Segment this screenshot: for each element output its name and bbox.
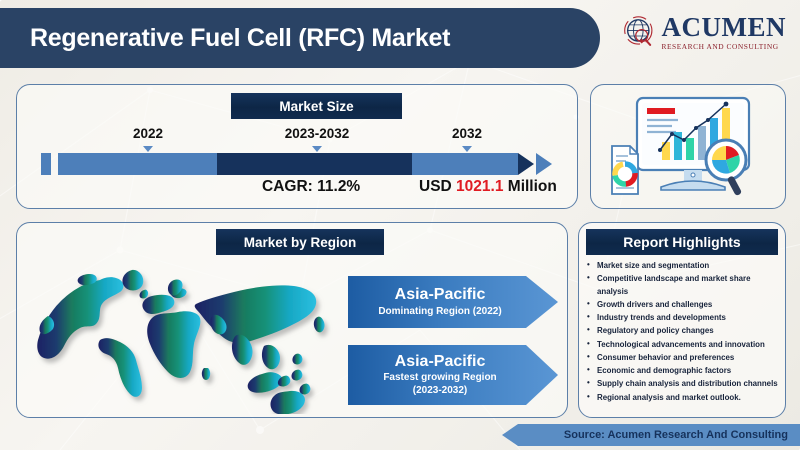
forecast-prefix: USD xyxy=(419,178,452,195)
bullet-icon: • xyxy=(587,298,590,310)
forecast-suffix: Million xyxy=(508,178,557,195)
bullet-icon: • xyxy=(587,259,590,271)
timeline-tick-1 xyxy=(312,146,322,152)
highlight-item: •Technological advancements and innovati… xyxy=(584,339,782,351)
highlight-item-label: Growth drivers and challenges xyxy=(597,300,712,309)
timeline-year-1: 2023-2032 xyxy=(254,126,380,144)
highlight-item-label: Industry trends and developments xyxy=(597,313,726,322)
cagr-stat: CAGR: 11.2% xyxy=(262,178,360,196)
screen-title-bar xyxy=(647,108,675,114)
bullet-icon: • xyxy=(587,324,590,336)
region-callout-fastest-growing: Asia-Pacific Fastest growing Region (202… xyxy=(348,345,558,405)
bullet-icon: • xyxy=(587,364,590,376)
market-by-region-title: Market by Region xyxy=(216,229,384,255)
highlight-item: •Industry trends and developments xyxy=(584,312,782,324)
timeline-arrowhead xyxy=(518,153,534,175)
globe-magnifier-icon xyxy=(623,16,657,50)
timeline-stub-1 xyxy=(58,153,68,175)
header-bar: Regenerative Fuel Cell (RFC) Market xyxy=(0,8,600,68)
source-text: Source: Acumen Research And Consulting xyxy=(502,424,800,446)
highlight-item: •Supply chain analysis and distribution … xyxy=(584,378,782,390)
region-callout-subtitle-line2: (2023-2032) xyxy=(413,384,467,397)
timeline-chevron xyxy=(536,153,552,175)
highlight-item-label: Market size and segmentation xyxy=(597,261,709,270)
highlight-item: •Consumer behavior and preferences xyxy=(584,352,782,364)
highlight-item-label: Competitive landscape and market share a… xyxy=(597,274,751,295)
bullet-icon: • xyxy=(587,272,590,284)
timeline-year-2: 2032 xyxy=(432,126,502,144)
highlight-item-label: Economic and demographic factors xyxy=(597,366,731,375)
timeline-tick-0 xyxy=(143,146,153,152)
bullet-icon: • xyxy=(587,338,590,350)
page-title: Regenerative Fuel Cell (RFC) Market xyxy=(30,24,450,53)
region-callout-subtitle: Dominating Region (2022) xyxy=(378,305,501,318)
region-callout-dominating: Asia-Pacific Dominating Region (2022) xyxy=(348,276,558,328)
highlight-item: •Market size and segmentation xyxy=(584,260,782,272)
source-banner: Source: Acumen Research And Consulting xyxy=(502,424,800,446)
forecast-value: 1021.1 xyxy=(456,178,503,195)
report-highlights-list: •Market size and segmentation•Competitiv… xyxy=(584,260,782,405)
report-highlights-title: Report Highlights xyxy=(586,229,778,255)
timeline-segment-0 xyxy=(68,153,217,175)
highlight-item: •Economic and demographic factors xyxy=(584,365,782,377)
highlight-item-label: Consumer behavior and preferences xyxy=(597,353,734,362)
timeline-stub-0 xyxy=(41,153,51,175)
highlight-item-label: Regulatory and policy changes xyxy=(597,326,714,335)
world-map-gradient xyxy=(28,262,338,414)
market-size-title: Market Size xyxy=(231,93,402,119)
region-callout-title: Asia-Pacific xyxy=(395,286,486,304)
cagr-label: CAGR: xyxy=(262,178,313,195)
highlight-item: •Competitive landscape and market share … xyxy=(584,273,782,298)
highlight-item-label: Technological advancements and innovatio… xyxy=(597,340,765,349)
highlight-item: •Growth drivers and challenges xyxy=(584,299,782,311)
timeline-tick-2 xyxy=(462,146,472,152)
highlight-item: •Regulatory and policy changes xyxy=(584,325,782,337)
region-callout-subtitle-line1: Fastest growing Region xyxy=(383,371,496,384)
bullet-icon: • xyxy=(587,391,590,403)
document-donut-chart xyxy=(612,146,638,194)
analytics-monitor-illustration xyxy=(606,90,772,204)
highlight-item-label: Regional analysis and market outlook. xyxy=(597,393,741,402)
timeline-segment-1 xyxy=(217,153,412,175)
logo-tagline: RESEARCH AND CONSULTING xyxy=(662,43,787,50)
forecast-stat: USD 1021.1 Million xyxy=(419,178,557,196)
bullet-icon: • xyxy=(587,351,590,363)
bullet-icon: • xyxy=(587,311,590,323)
cagr-value: 11.2% xyxy=(317,178,360,195)
highlight-item-label: Supply chain analysis and distribution c… xyxy=(597,379,778,388)
timeline-segment-2 xyxy=(412,153,518,175)
logo-wordmark: ACUMEN RESEARCH AND CONSULTING xyxy=(662,14,787,50)
timeline-year-0: 2022 xyxy=(113,126,183,144)
logo-name: ACUMEN xyxy=(662,14,787,41)
region-callout-title: Asia-Pacific xyxy=(395,353,486,371)
highlight-item: •Regional analysis and market outlook. xyxy=(584,392,782,404)
brand-logo[interactable]: ACUMEN RESEARCH AND CONSULTING xyxy=(623,14,787,50)
bullet-icon: • xyxy=(587,377,590,389)
